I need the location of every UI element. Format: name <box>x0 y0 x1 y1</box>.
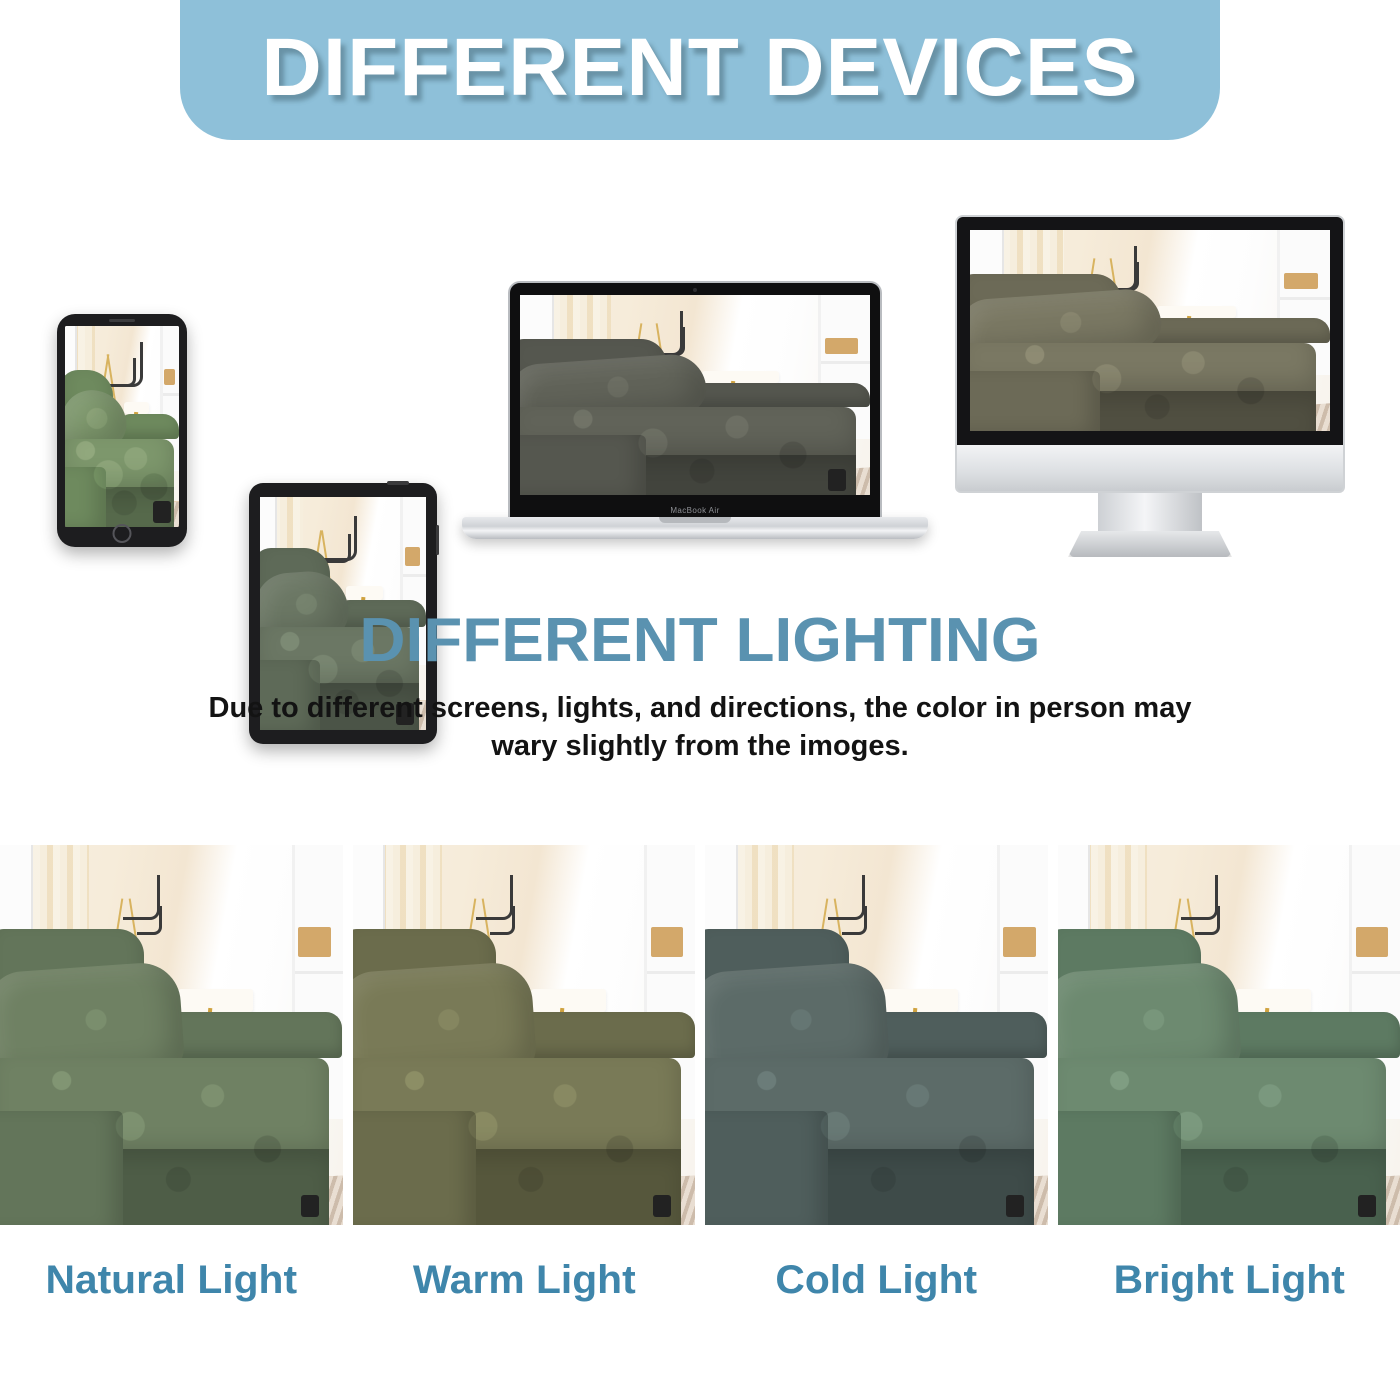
laptop-latch-notch <box>659 517 731 523</box>
label-warm-light: Warm Light <box>349 1250 698 1310</box>
label-bright-light: Bright Light <box>1054 1250 1400 1310</box>
phone-screen <box>65 326 179 527</box>
sofa-photo <box>970 230 1330 431</box>
lighting-comparison-grid <box>0 845 1400 1225</box>
sofa-photo <box>0 845 343 1225</box>
desktop-monitor-icon <box>955 215 1345 565</box>
monitor-stand-neck <box>1098 493 1202 533</box>
label-cold-light: Cold Light <box>702 1250 1051 1310</box>
laptop-base <box>462 517 928 539</box>
tablet-power-button-icon <box>436 525 439 555</box>
sofa-photo <box>520 295 870 495</box>
lighting-heading: DIFFERENT LIGHTING <box>0 608 1400 673</box>
laptop-lid: MacBook Air <box>508 281 882 521</box>
comparison-labels-row: Natural Light Warm Light Cold Light Brig… <box>0 1250 1400 1310</box>
lighting-body-text: Due to different screens, lights, and di… <box>190 689 1210 766</box>
label-natural-light: Natural Light <box>0 1250 346 1310</box>
comparison-panel-cold <box>705 845 1048 1225</box>
monitor-chin <box>955 445 1345 493</box>
comparison-panel-natural <box>0 845 343 1225</box>
phone-home-button-icon <box>113 524 132 543</box>
monitor-screen <box>970 230 1330 431</box>
device-mockups-row: MacBook Air <box>0 195 1400 575</box>
monitor-panel <box>955 215 1345 445</box>
header-banner: DIFFERENT DEVICES <box>180 0 1220 140</box>
sofa-photo <box>1058 845 1400 1225</box>
monitor-stand-base <box>1068 531 1232 557</box>
sofa-photo <box>353 845 696 1225</box>
comparison-panel-bright <box>1058 845 1400 1225</box>
sofa-photo <box>705 845 1048 1225</box>
smartphone-icon <box>57 314 187 547</box>
lighting-section: DIFFERENT LIGHTING Due to different scre… <box>0 608 1400 766</box>
webcam-icon <box>693 288 697 292</box>
tablet-volume-button-icon <box>387 481 409 485</box>
laptop-icon: MacBook Air <box>508 281 882 540</box>
phone-earpiece-icon <box>109 319 135 322</box>
banner-title: DIFFERENT DEVICES <box>261 27 1138 109</box>
sofa-photo <box>65 326 179 527</box>
laptop-screen <box>520 295 870 495</box>
comparison-panel-warm <box>353 845 696 1225</box>
laptop-brand-label: MacBook Air <box>510 506 880 515</box>
